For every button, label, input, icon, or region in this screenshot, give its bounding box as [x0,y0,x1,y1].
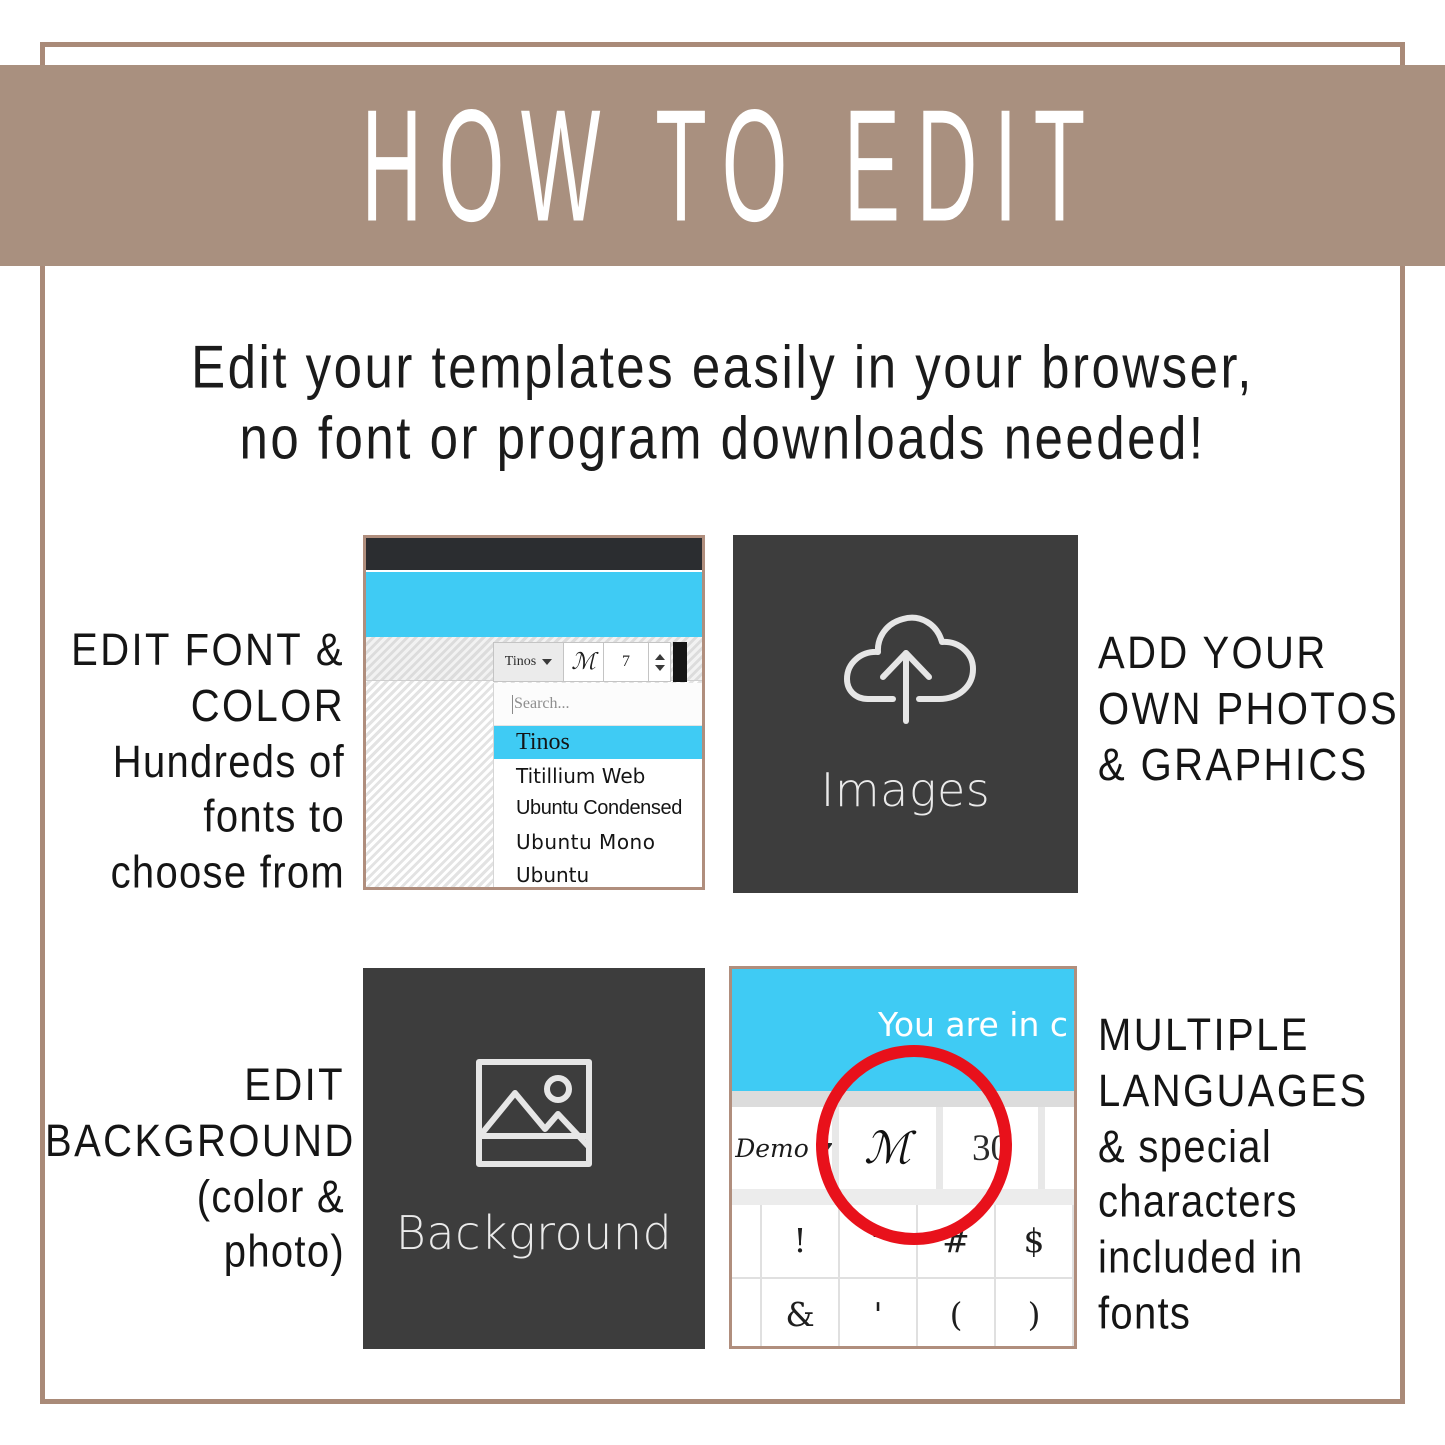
caption-edit-font-color: EDIT FONT & COLOR Hundreds of fonts to c… [55,623,345,901]
caption-line: choose from [55,846,345,902]
font-search-input[interactable]: Search... [494,683,705,726]
caption-line: COLOR [55,679,345,735]
poster-canvas: HOW TO EDIT Edit your templates easily i… [0,0,1445,1445]
subtitle-line-2: no font or program downloads needed! [95,403,1350,474]
caption-line: EDIT FONT & [55,623,345,679]
red-circle-annotation [816,1045,1012,1245]
charmap-cell[interactable]: ' [840,1279,918,1350]
charmap-cell[interactable]: ) [996,1279,1074,1350]
cloud-upload-icon [831,611,981,731]
caption-line: & special [1098,1119,1398,1175]
caption-line: BACKGROUND [45,1114,345,1170]
charmap-cell[interactable] [732,1205,762,1279]
toolbar-separator [1038,1107,1045,1189]
charmap-cell[interactable]: $ [996,1205,1074,1279]
font-list-item-titillium-web[interactable]: Titillium Web [494,759,705,792]
editor-cyan-banner [366,572,702,637]
font-style-button[interactable]: ℳ [564,642,604,682]
font-list-item-ubuntu-mono[interactable]: Ubuntu Mono [494,825,705,858]
stepper-down-icon[interactable] [655,665,665,671]
charmap-cell[interactable]: & [762,1279,840,1350]
font-toolbar: Tinos ℳ 7 [493,642,671,682]
subtitle: Edit your templates easily in your brows… [95,332,1350,474]
caption-line: OWN PHOTOS [1098,682,1403,738]
script-glyph-icon: ℳ [571,649,596,675]
caption-line: fonts to [55,790,345,846]
font-size-input[interactable]: 7 [604,642,649,682]
font-family-dropdown-button[interactable]: Tinos [493,642,564,682]
images-tile-label: Images [821,763,990,817]
stepper-up-icon[interactable] [655,654,665,660]
caption-line: characters [1098,1175,1398,1231]
caption-line: Hundreds of [55,734,345,790]
charmap-banner-text: You are in c [878,1005,1068,1044]
font-list: Tinos Titillium Web Ubuntu Condensed Ubu… [494,726,705,890]
font-dropdown-panel: Search... Tinos Titillium Web Ubuntu Con… [493,683,705,890]
text-cursor [512,695,513,714]
editor-titlebar [366,538,702,570]
caption-line: EDIT [45,1058,345,1114]
font-size-stepper[interactable] [649,642,671,682]
caption-add-photos-graphics: ADD YOUR OWN PHOTOS & GRAPHICS [1098,626,1403,793]
caption-line: photo) [45,1225,345,1281]
font-list-item-ubuntu-condensed[interactable]: Ubuntu Condensed [494,792,705,825]
screenshot-font-picker: Tinos ℳ 7 Search... Tinos Titillium We [363,535,705,890]
caption-line: (color & [45,1169,345,1225]
screenshot-background-tile: Background [363,968,705,1349]
font-list-item-ubuntu[interactable]: Ubuntu [494,858,705,890]
background-tile-label: Background [396,1206,672,1260]
font-family-value: Tinos [505,654,536,670]
font-search-placeholder: Search... [514,695,570,713]
caption-edit-background: EDIT BACKGROUND (color & photo) [45,1058,345,1281]
page-title: HOW TO EDIT [343,86,1101,246]
caption-line: & GRAPHICS [1098,737,1403,793]
screenshot-images-tile: Images [733,535,1078,893]
toolbar-dark-edge [673,642,687,682]
font-size-value: 7 [622,653,630,671]
font-list-item-tinos[interactable]: Tinos [494,726,705,759]
picture-icon [474,1057,594,1174]
chevron-down-icon [542,659,552,665]
charmap-cell[interactable]: ! [762,1205,840,1279]
banner-how-to-edit: HOW TO EDIT [0,65,1445,266]
caption-line: fonts [1098,1286,1398,1342]
subtitle-line-1: Edit your templates easily in your brows… [95,332,1350,403]
caption-line: MULTIPLE [1098,1008,1398,1064]
caption-multiple-languages: MULTIPLE LANGUAGES & special characters … [1098,1008,1398,1342]
charmap-font-name: Demo [735,1134,809,1163]
charmap-cell[interactable]: ( [918,1279,996,1350]
caption-line: LANGUAGES [1098,1064,1398,1120]
charmap-cell[interactable] [732,1279,762,1350]
caption-line: ADD YOUR [1098,626,1403,682]
caption-line: included in [1098,1231,1398,1287]
